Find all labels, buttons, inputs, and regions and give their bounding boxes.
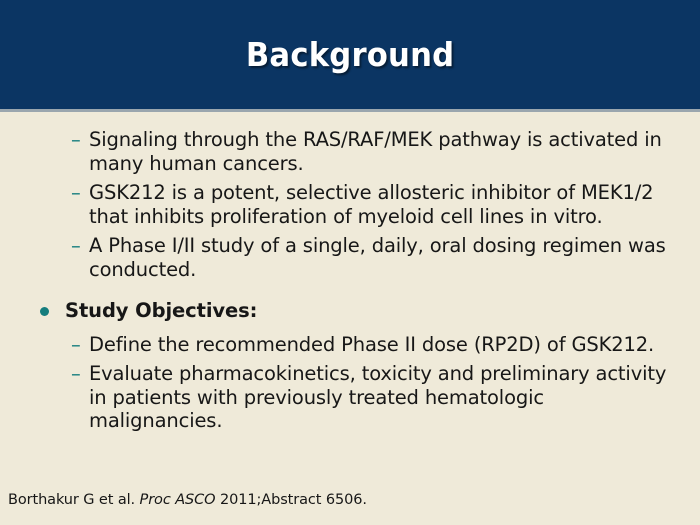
slide-body: – Signaling through the RAS/RAF/MEK path… [0, 112, 700, 472]
dash-bullet-icon: – [71, 333, 81, 357]
list-item: – Signaling through the RAS/RAF/MEK path… [0, 128, 686, 175]
round-bullet-icon [40, 307, 49, 316]
citation-journal: Proc ASCO [140, 492, 216, 508]
list-item: – Define the recommended Phase II dose (… [0, 333, 686, 357]
page-title: Background [236, 38, 463, 71]
list-item: – GSK212 is a potent, selective alloster… [0, 181, 686, 228]
list-item-text: GSK212 is a potent, selective allosteric… [89, 181, 653, 228]
slide: Background – Signaling through the RAS/R… [0, 0, 700, 525]
list-item-text: Define the recommended Phase II dose (RP… [89, 333, 654, 356]
dash-bullet-icon: – [71, 362, 81, 386]
list-item-text: Signaling through the RAS/RAF/MEK pathwa… [89, 128, 662, 175]
slide-header: Background [0, 0, 700, 109]
citation-footer: Borthakur G et al. Proc ASCO 2011;Abstra… [0, 491, 700, 509]
intro-bullet-list: – Signaling through the RAS/RAF/MEK path… [0, 128, 686, 281]
dash-bullet-icon: – [71, 128, 81, 152]
list-item: – A Phase I/II study of a single, daily,… [0, 234, 686, 281]
list-item-text: A Phase I/II study of a single, daily, o… [89, 234, 666, 281]
objectives-heading: Study Objectives: [0, 299, 686, 323]
list-item-text: Evaluate pharmacokinetics, toxicity and … [89, 362, 666, 432]
citation-details: 2011;Abstract 6506. [215, 492, 366, 508]
dash-bullet-icon: – [71, 181, 81, 205]
objectives-heading-text: Study Objectives: [65, 299, 257, 322]
objectives-section: Study Objectives: [0, 299, 686, 323]
dash-bullet-icon: – [71, 234, 81, 258]
objectives-bullet-list: – Define the recommended Phase II dose (… [0, 333, 686, 433]
list-item: – Evaluate pharmacokinetics, toxicity an… [0, 362, 686, 433]
citation-authors: Borthakur G et al. [8, 492, 140, 508]
